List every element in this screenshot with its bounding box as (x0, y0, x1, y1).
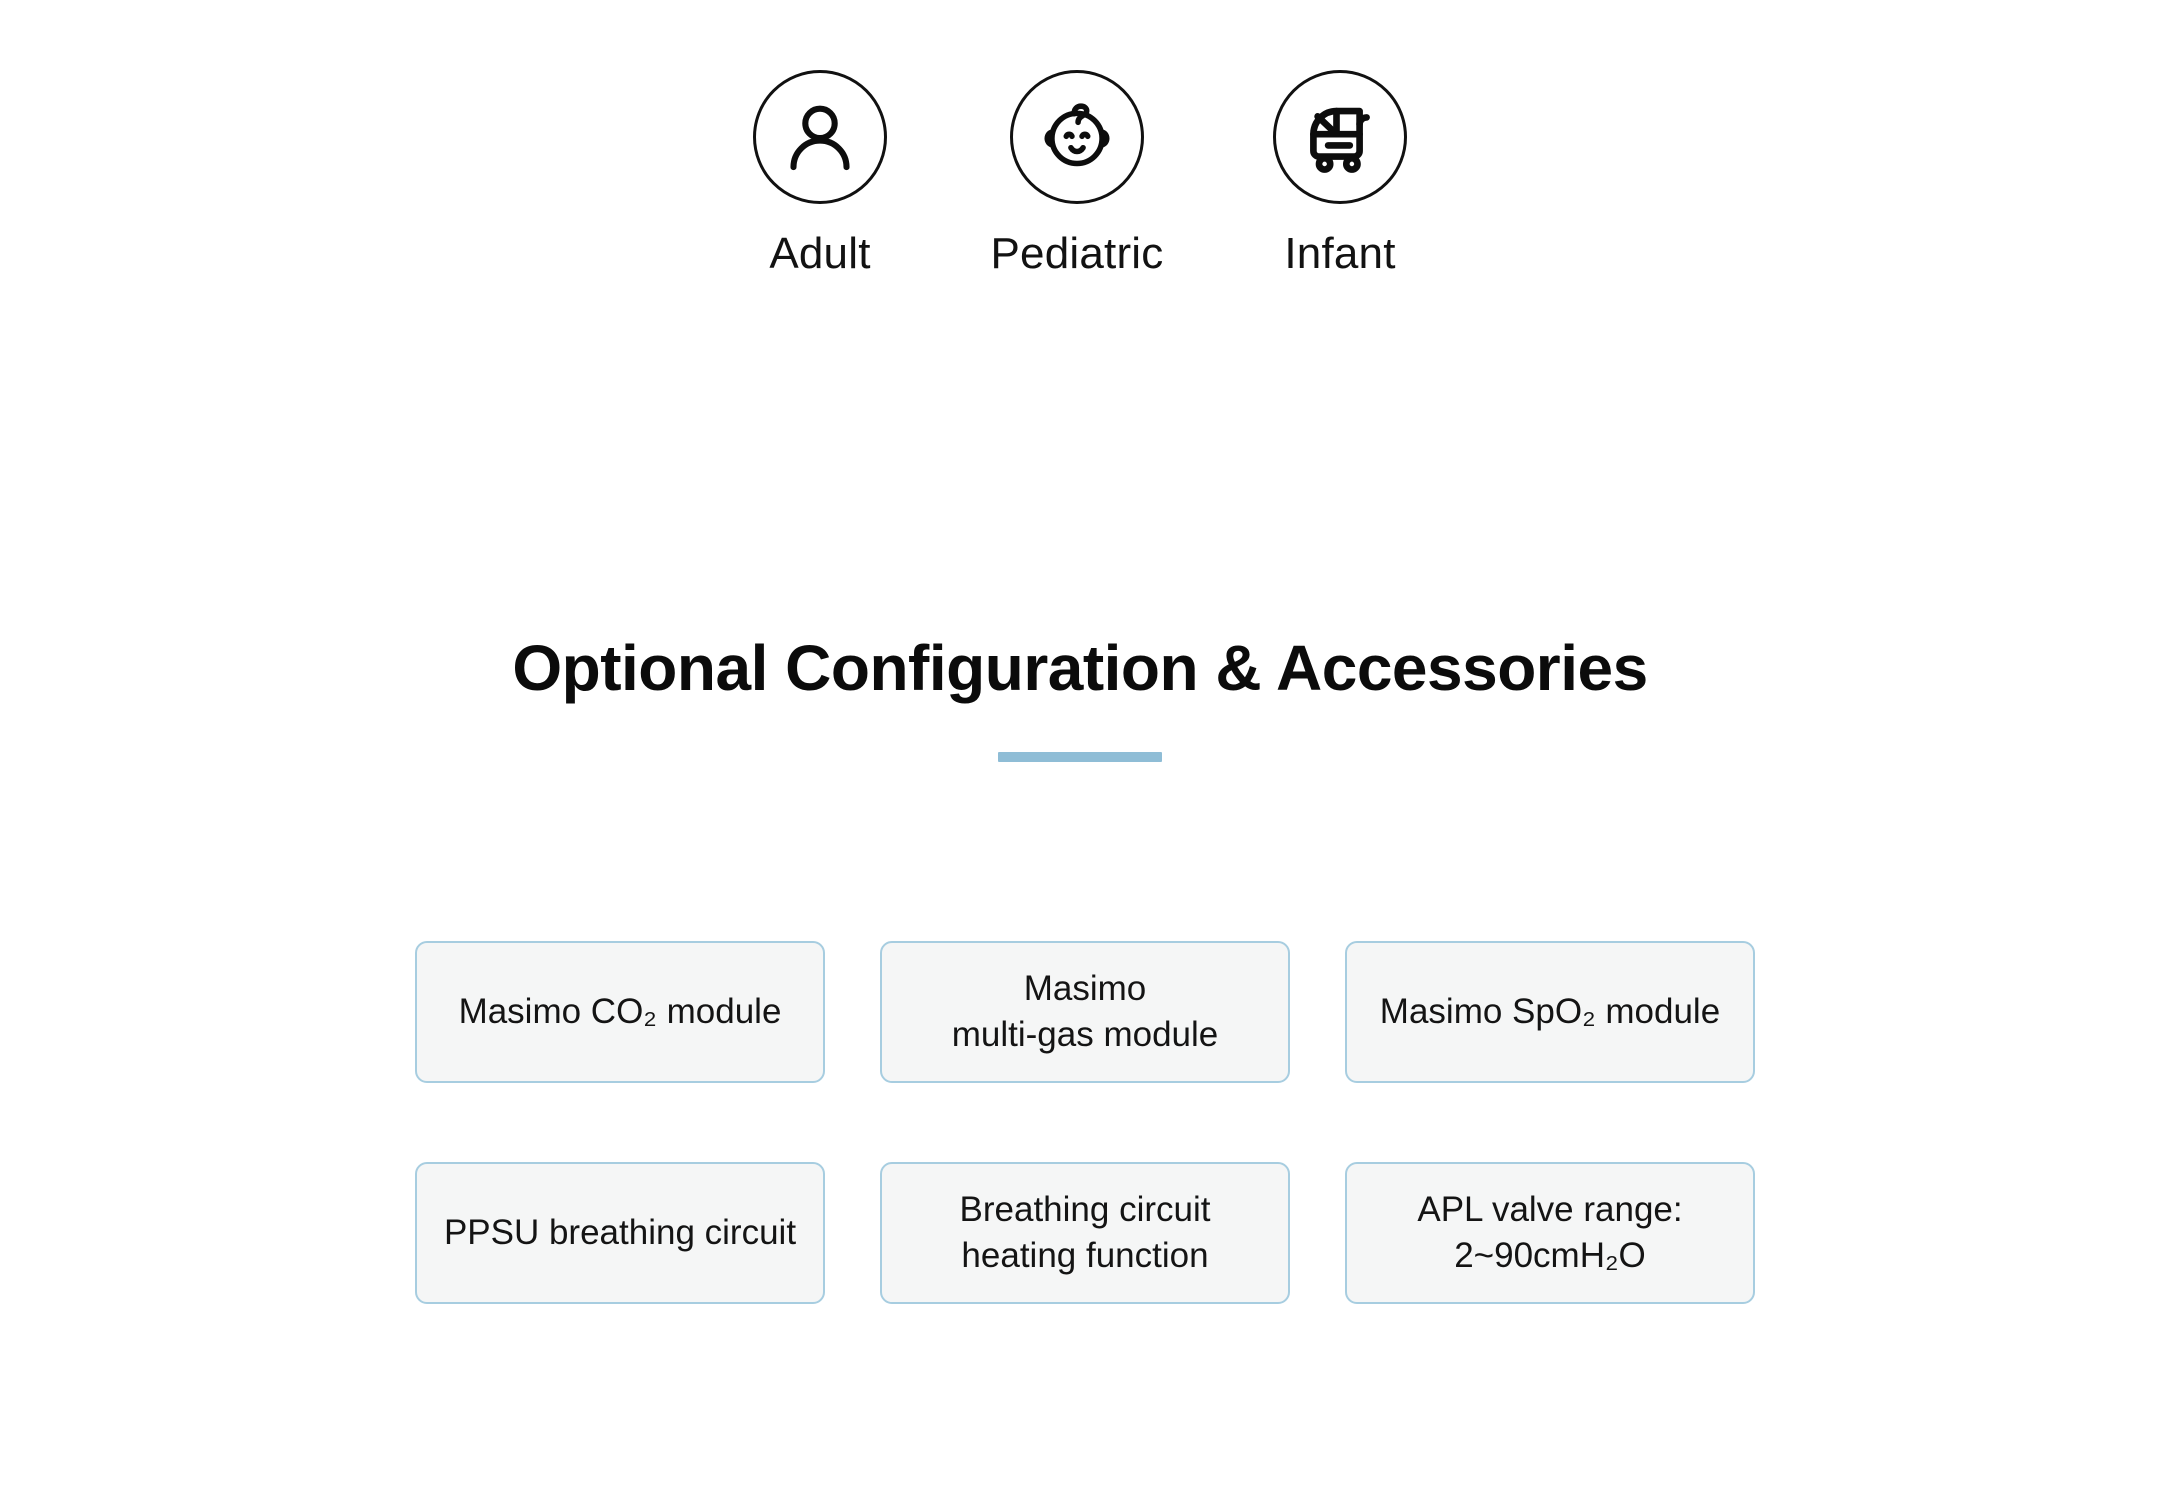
accessory-card-label: APL valve range: 2~90cmH₂O (1417, 1187, 1682, 1279)
section-header: Optional Configuration & Accessories (0, 632, 2160, 762)
patient-type-infant[interactable]: Infant (1210, 70, 1470, 278)
baby-face-icon (1010, 70, 1144, 204)
accessory-card-label: Breathing circuit heating function (960, 1187, 1211, 1279)
accessory-card-label: Masimo SpO₂ module (1380, 989, 1720, 1035)
accessory-card-label: PPSU breathing circuit (444, 1210, 796, 1256)
accessory-card[interactable]: Masimo SpO₂ module (1345, 941, 1755, 1083)
patient-types-row: Adult Pediatric (0, 70, 2160, 330)
patient-type-label: Infant (1210, 230, 1470, 278)
accessory-card[interactable]: PPSU breathing circuit (415, 1162, 825, 1304)
accessory-card[interactable]: Masimo multi-gas module (880, 941, 1290, 1083)
accessory-card[interactable]: APL valve range: 2~90cmH₂O (1345, 1162, 1755, 1304)
stroller-icon (1273, 70, 1407, 204)
patient-type-adult[interactable]: Adult (690, 70, 950, 278)
page-root: Adult Pediatric (0, 0, 2160, 1485)
patient-type-label: Pediatric (947, 230, 1207, 278)
page-title: Optional Configuration & Accessories (0, 632, 2160, 706)
accessory-card-label: Masimo CO₂ module (459, 989, 782, 1035)
title-accent-bar (998, 752, 1162, 762)
accessory-card[interactable]: Masimo CO₂ module (415, 941, 825, 1083)
adult-person-icon (753, 70, 887, 204)
patient-type-label: Adult (690, 230, 950, 278)
accessory-card-label: Masimo multi-gas module (952, 966, 1219, 1058)
accessory-card[interactable]: Breathing circuit heating function (880, 1162, 1290, 1304)
patient-type-pediatric[interactable]: Pediatric (947, 70, 1207, 278)
accessories-grid: Masimo CO₂ module Masimo multi-gas modul… (415, 941, 1755, 1304)
